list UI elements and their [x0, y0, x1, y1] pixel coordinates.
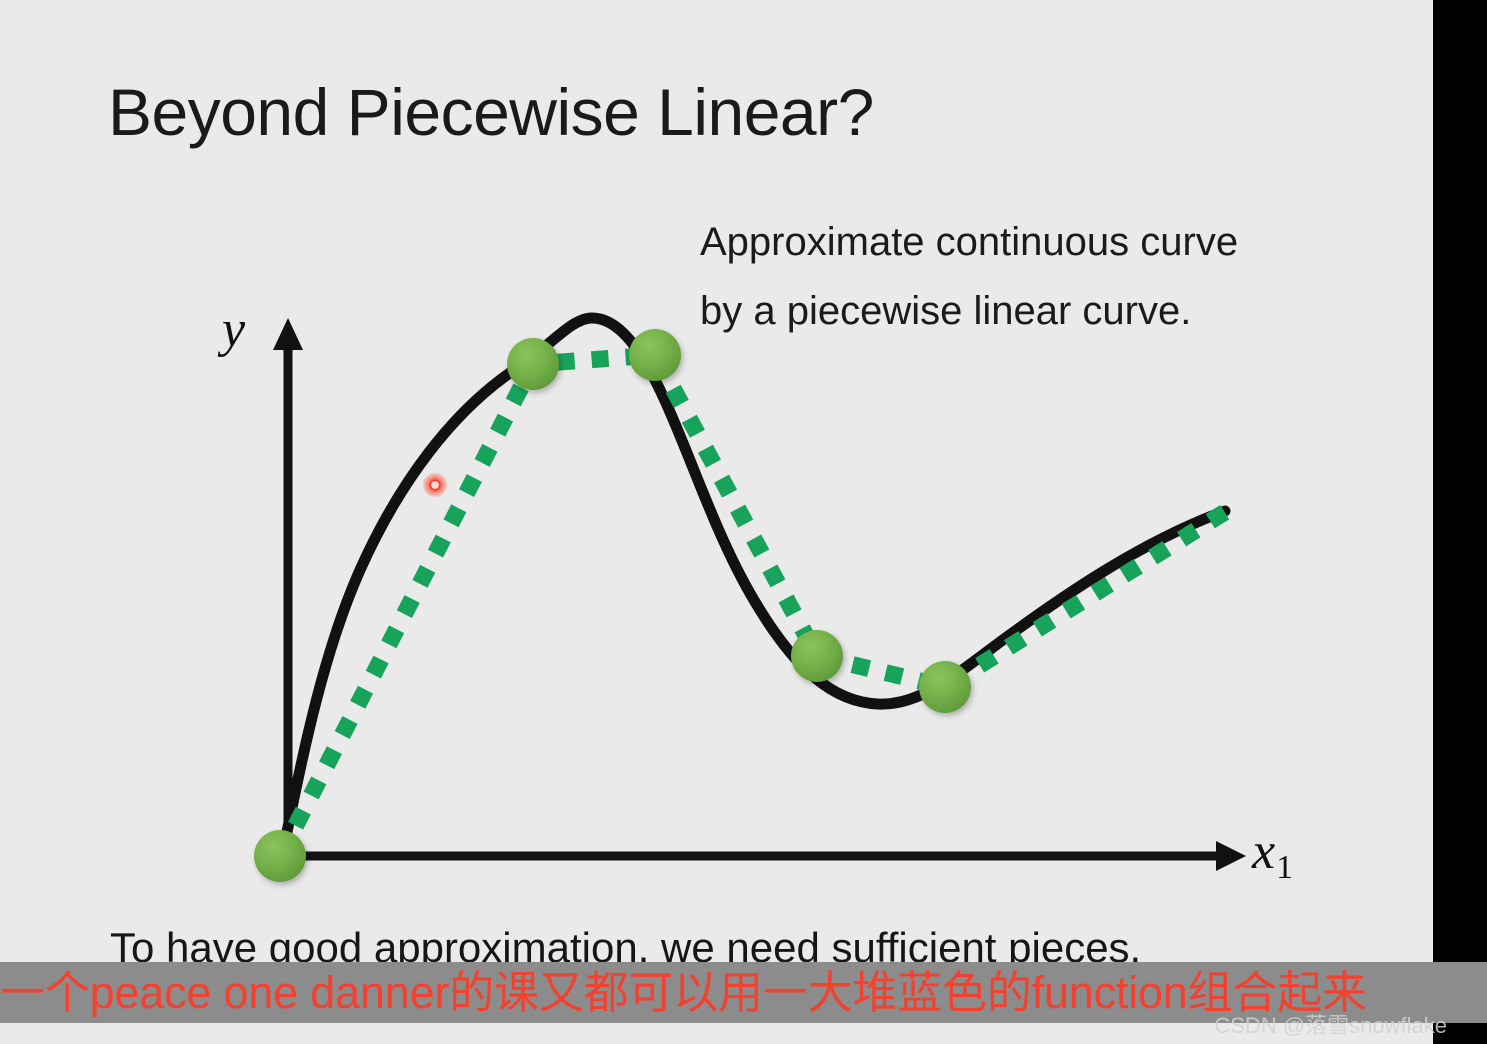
- csdn-watermark: CSDN @落雪snowflake: [1214, 1008, 1447, 1040]
- x-axis-label: x1: [1252, 822, 1293, 887]
- x-axis-label-base: x: [1252, 823, 1275, 880]
- function-plot: [0, 0, 1433, 1044]
- slide-canvas: Beyond Piecewise Linear? Approximate con…: [0, 0, 1487, 1044]
- knot-point: [507, 338, 559, 390]
- x-axis-label-subscript: 1: [1276, 849, 1293, 886]
- knot-point: [791, 630, 843, 682]
- knot-point-group: [254, 329, 971, 882]
- knot-point: [629, 329, 681, 381]
- y-axis-arrowhead: [273, 318, 303, 350]
- knot-point: [254, 830, 306, 882]
- slide-content-area: Beyond Piecewise Linear? Approximate con…: [0, 0, 1433, 1044]
- knot-point: [919, 661, 971, 713]
- continuous-curve-path: [282, 318, 1225, 856]
- x-axis-arrowhead: [1216, 841, 1246, 871]
- right-letterbox-bar: [1433, 0, 1487, 1044]
- laser-pointer-cursor: [423, 473, 447, 497]
- y-axis-label: y: [222, 300, 245, 359]
